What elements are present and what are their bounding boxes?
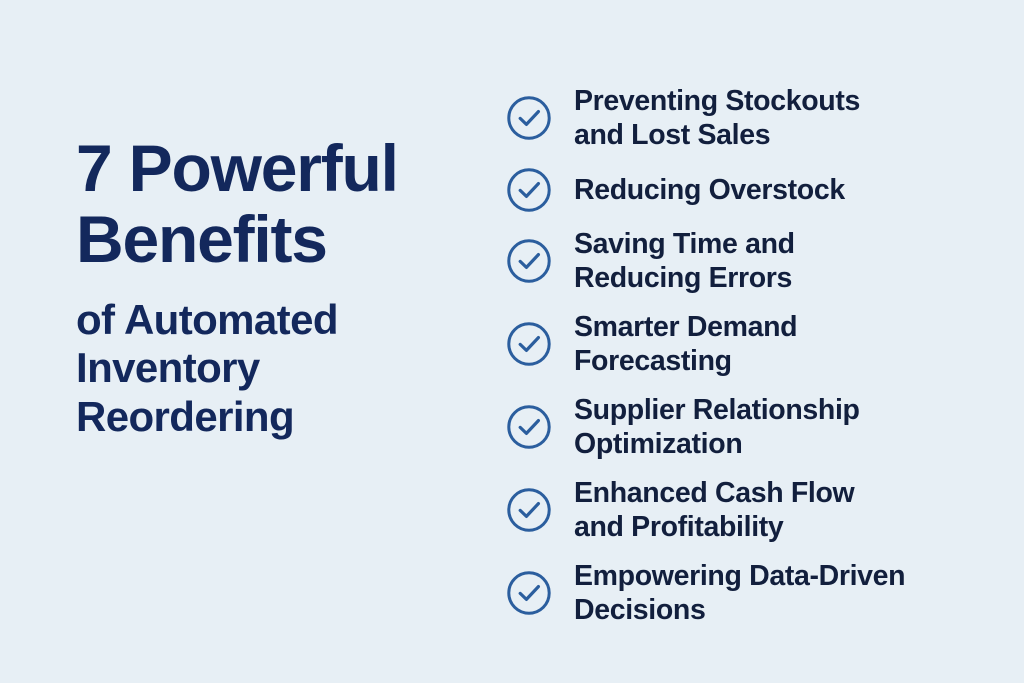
check-circle-icon [506, 321, 552, 367]
list-item-label: Preventing Stockouts and Lost Sales [574, 84, 860, 153]
list-item: Supplier Relationship Optimization [506, 393, 976, 462]
list-item: Empowering Data-Driven Decisions [506, 559, 976, 628]
title-panel: 7 Powerful Benefits of Automated Invento… [76, 133, 476, 442]
check-circle-icon [506, 167, 552, 213]
list-item: Enhanced Cash Flow and Profitability [506, 476, 976, 545]
list-item-label: Saving Time and Reducing Errors [574, 227, 795, 296]
list-item: Saving Time and Reducing Errors [506, 227, 976, 296]
list-item-label: Empowering Data-Driven Decisions [574, 559, 905, 628]
list-item: Preventing Stockouts and Lost Sales [506, 84, 976, 153]
benefits-list: Preventing Stockouts and Lost Sales Redu… [506, 84, 976, 628]
list-item: Reducing Overstock [506, 167, 976, 213]
page-title: 7 Powerful Benefits [76, 133, 476, 276]
check-circle-icon [506, 238, 552, 284]
check-circle-icon [506, 95, 552, 141]
list-item-label: Reducing Overstock [574, 173, 845, 207]
check-circle-icon [506, 404, 552, 450]
list-item-label: Supplier Relationship Optimization [574, 393, 860, 462]
page-subtitle: of Automated Inventory Reordering [76, 296, 476, 442]
check-circle-icon [506, 570, 552, 616]
list-item-label: Enhanced Cash Flow and Profitability [574, 476, 854, 545]
infographic-canvas: 7 Powerful Benefits of Automated Invento… [0, 0, 1024, 683]
list-item-label: Smarter Demand Forecasting [574, 310, 797, 379]
check-circle-icon [506, 487, 552, 533]
list-item: Smarter Demand Forecasting [506, 310, 976, 379]
